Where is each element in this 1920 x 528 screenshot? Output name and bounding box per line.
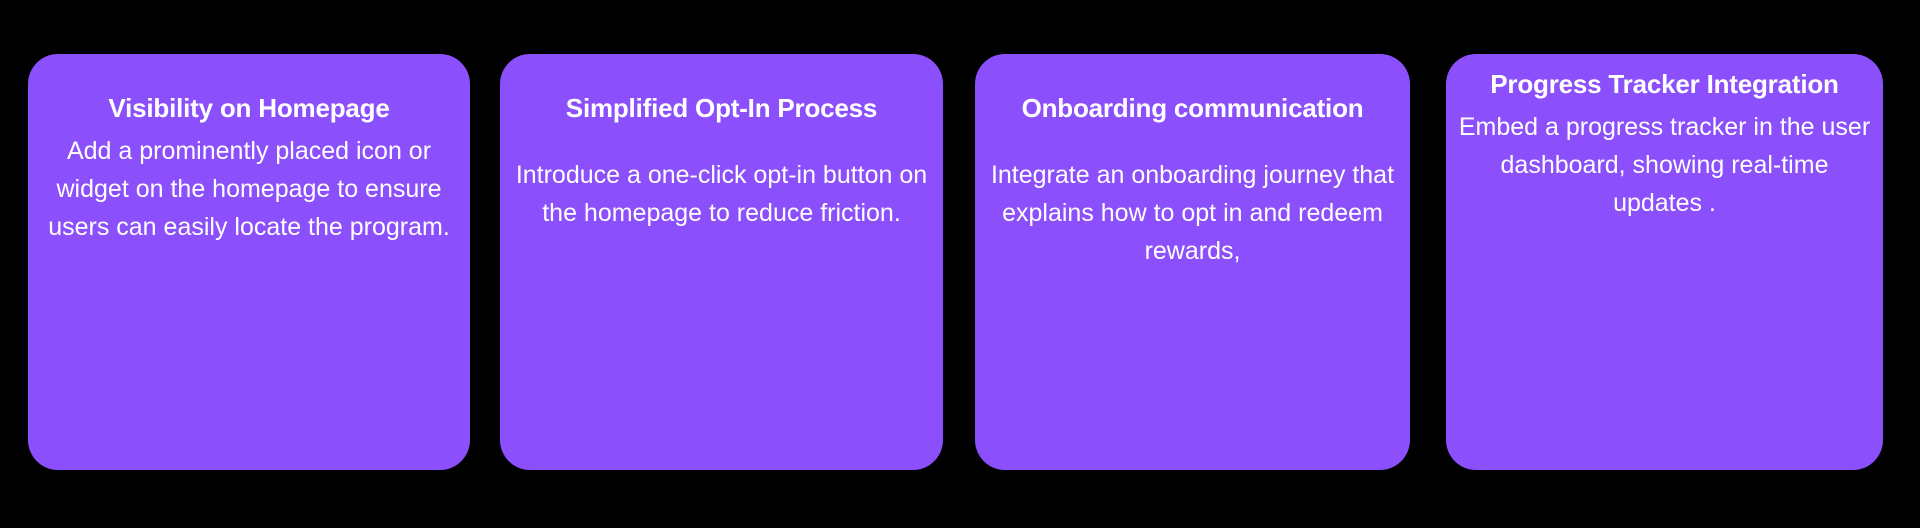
- card-body: Embed a progress tracker in the user das…: [1446, 108, 1883, 222]
- recommendation-card-onboarding-communication[interactable]: Onboarding communication Integrate an on…: [975, 54, 1410, 470]
- recommendation-cards-canvas: Visibility on Homepage Add a prominently…: [0, 0, 1920, 528]
- card-body: Integrate an onboarding journey that exp…: [975, 156, 1410, 270]
- recommendation-card-visibility-on-homepage[interactable]: Visibility on Homepage Add a prominently…: [28, 54, 470, 470]
- recommendation-card-simplified-opt-in-process[interactable]: Simplified Opt-In Process Introduce a on…: [500, 54, 943, 470]
- card-body: Introduce a one-click opt-in button on t…: [500, 156, 943, 232]
- card-body: Add a prominently placed icon or widget …: [28, 132, 470, 246]
- card-title: Progress Tracker Integration: [1480, 68, 1848, 100]
- card-title: Simplified Opt-In Process: [556, 92, 887, 124]
- card-title: Onboarding communication: [1012, 92, 1374, 124]
- recommendation-card-progress-tracker-integration[interactable]: Progress Tracker Integration Embed a pro…: [1446, 54, 1883, 470]
- card-title: Visibility on Homepage: [98, 92, 399, 124]
